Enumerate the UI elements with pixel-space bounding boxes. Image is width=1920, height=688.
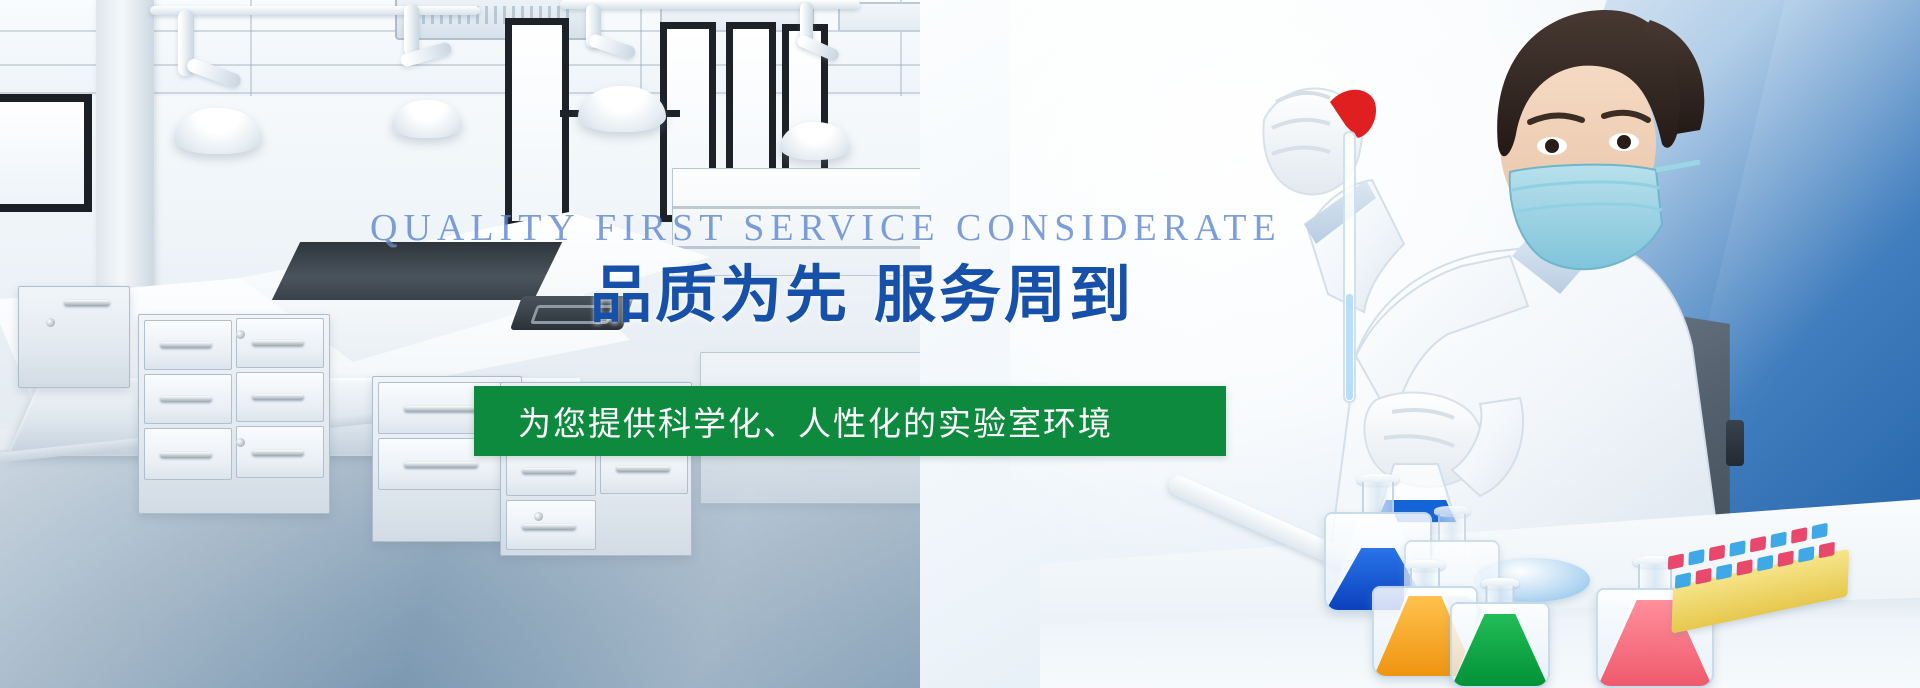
drawer-handle [160, 452, 212, 458]
drawer-handle [616, 466, 670, 472]
drawer-lock-icon [236, 438, 245, 447]
researcher-figure [1180, 0, 1740, 554]
extraction-rail [150, 6, 480, 15]
headline-part-1: 品质为先 [590, 258, 850, 331]
subtitle-green-bar: 为您提供科学化、人性化的实验室环境 [474, 386, 1226, 456]
pupil [1617, 135, 1631, 149]
pupil [1545, 139, 1559, 153]
drawer-lock-icon [534, 512, 543, 521]
rack-cell [1771, 531, 1787, 548]
flask-green [1450, 578, 1550, 688]
rack-cell [1729, 540, 1745, 557]
rack-cell [1688, 549, 1704, 566]
drawer-handle [522, 468, 576, 474]
flask-body [1450, 602, 1550, 688]
flask-liquid [1452, 614, 1548, 686]
rack-cell [1750, 536, 1766, 553]
promo-banner: QUALITY FIRST SERVICE CONSIDERATE 品质为先服务… [0, 0, 1920, 688]
drawer-handle [160, 342, 212, 348]
headline-chinese: 品质为先服务周到 [590, 244, 1134, 334]
drawer-lock-icon [236, 330, 245, 339]
extraction-arm [404, 4, 419, 56]
cabinet-lock-icon [46, 318, 55, 327]
pipette-liquid [1346, 294, 1353, 400]
structural-pillar [96, 0, 154, 292]
subtitle-text: 为您提供科学化、人性化的实验室环境 [474, 397, 1113, 445]
rack-cell [1791, 527, 1807, 544]
window-left [0, 94, 92, 212]
extraction-rail [560, 0, 860, 9]
drawer-handle [160, 396, 212, 402]
drawer-handle [252, 340, 304, 346]
mask-ear-loop [1656, 162, 1700, 170]
drawer-handle [522, 524, 576, 530]
rack-cell [1812, 523, 1828, 540]
ceiling-grid-line [640, 0, 642, 96]
cabinet-handle [64, 300, 110, 306]
banner-text-block: QUALITY FIRST SERVICE CONSIDERATE 品质为先服务… [364, 196, 1264, 466]
headline-part-2: 服务周到 [874, 258, 1134, 331]
rack-cell [1709, 545, 1725, 562]
drawer-handle [252, 450, 304, 456]
drawer-handle [252, 394, 304, 400]
rack-cell [1668, 553, 1684, 570]
